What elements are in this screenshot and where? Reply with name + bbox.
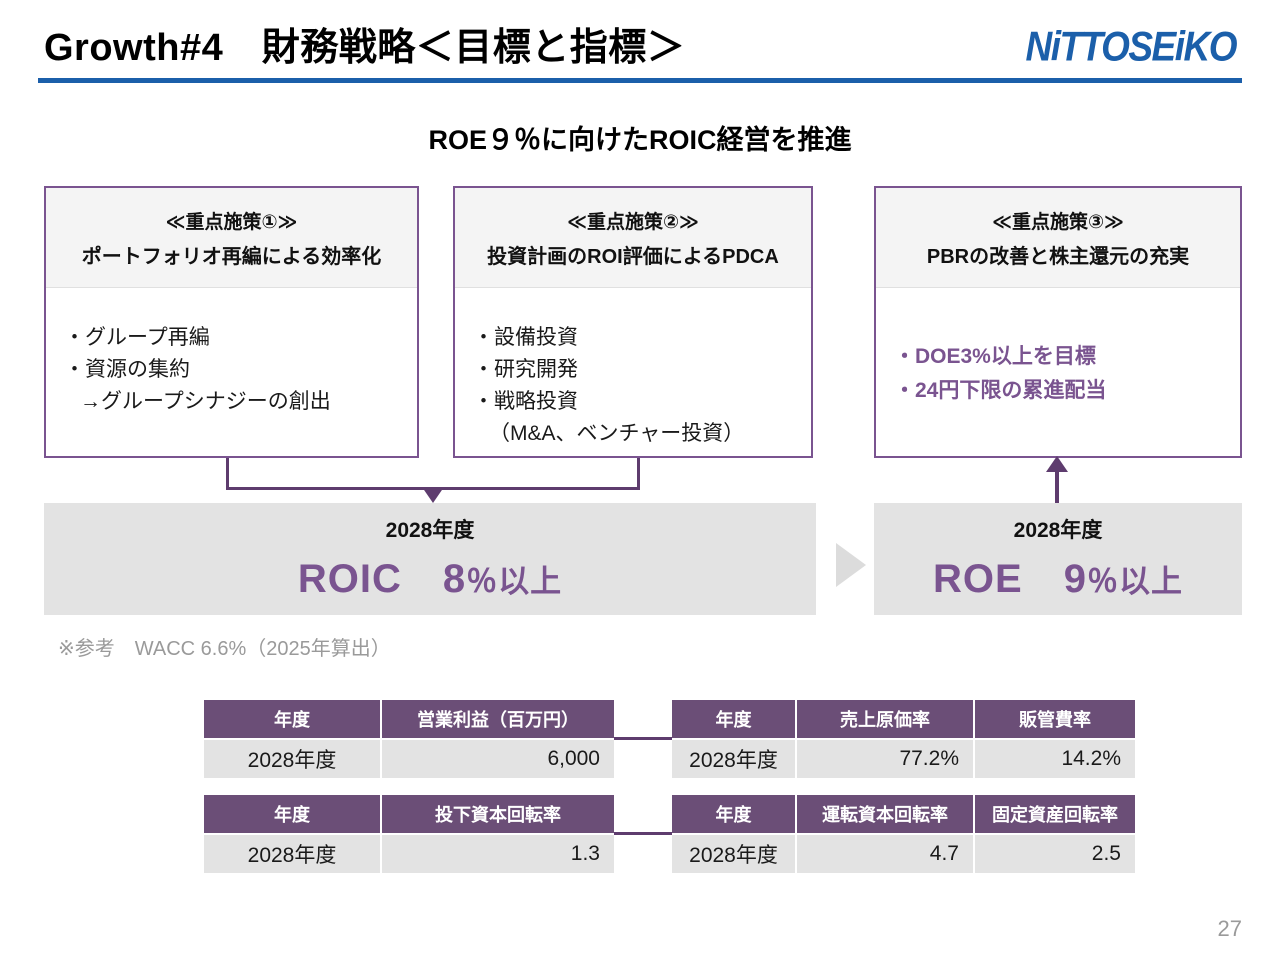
policy-box-2-body: ・設備投資 ・研究開発 ・戦略投資 （M&A、ベンチャー投資）	[455, 288, 811, 450]
policy-box-3-header: ≪重点施策③≫ PBRの改善と株主還元の充実	[876, 188, 1240, 288]
page-number: 27	[1218, 916, 1242, 942]
policy-box-2: ≪重点施策②≫ 投資計画のROI評価によるPDCA ・設備投資 ・研究開発 ・戦…	[453, 186, 813, 458]
roic-target-box: 2028年度 ROIC 8％以上	[44, 503, 816, 615]
policy-box-1-heading: ポートフォリオ再編による効率化	[82, 240, 381, 269]
table-cell: 6,000	[382, 738, 614, 778]
table-cell: 2028年度	[204, 833, 382, 873]
table-connector-bottom	[614, 832, 672, 835]
roe-value: ROE 9％以上	[933, 546, 1183, 604]
policy-box-1-tag: ≪重点施策①≫	[166, 207, 298, 234]
column-header: 投下資本回転率	[382, 795, 614, 833]
wacc-footnote: ※参考 WACC 6.6%（2025年算出）	[58, 632, 391, 661]
table-cell: 2.5	[975, 833, 1135, 873]
policy-box-3-tag: ≪重点施策③≫	[992, 207, 1124, 234]
list-item: ・資源の集約	[64, 354, 399, 386]
table-cell: 14.2%	[975, 738, 1135, 778]
roe-target-box: 2028年度 ROE 9％以上	[874, 503, 1242, 615]
list-item: （M&A、ベンチャー投資）	[473, 418, 793, 450]
table-connector-top	[614, 737, 672, 740]
table-operating-profit: 年度 営業利益（百万円） 2028年度 6,000	[204, 700, 614, 778]
connector-stem-left	[226, 458, 229, 490]
table-header-row: 年度 運転資本回転率 固定資産回転率	[672, 795, 1135, 833]
column-header: 運転資本回転率	[797, 795, 975, 833]
table-header-row: 年度 売上原価率 販管費率	[672, 700, 1135, 738]
table-row: 2028年度 6,000	[204, 738, 614, 778]
table-cost-ratios: 年度 売上原価率 販管費率 2028年度 77.2% 14.2%	[672, 700, 1135, 778]
policy-box-3-body: ・DOE3%以上を目標 ・24円下限の累進配当	[876, 288, 1240, 408]
subtitle: ROE９％に向けたROIC経営を推進	[0, 118, 1280, 157]
list-item: ・24円下限の累進配当	[894, 374, 1222, 408]
roe-unit: ％以上	[1087, 564, 1183, 599]
arrow-down-icon	[422, 487, 444, 503]
table-row: 2028年度 77.2% 14.2%	[672, 738, 1135, 778]
table-cell: 2028年度	[672, 833, 797, 873]
list-item: ・DOE3%以上を目標	[894, 340, 1222, 374]
slide-header: Growth#4 財務戦略＜目標と指標＞ NiTTOSEiKO	[0, 0, 1280, 90]
list-item: ・設備投資	[473, 322, 793, 354]
nittoseiko-logo: NiTTOSEiKO	[1026, 23, 1236, 70]
table-turnover-ratios: 年度 運転資本回転率 固定資産回転率 2028年度 4.7 2.5	[672, 795, 1135, 873]
table-header-row: 年度 投下資本回転率	[204, 795, 614, 833]
column-header: 年度	[672, 795, 797, 833]
roe-metric: ROE 9	[933, 557, 1087, 601]
policy-box-3-heading: PBRの改善と株主還元の充実	[927, 240, 1189, 269]
roe-year: 2028年度	[1014, 514, 1103, 544]
column-header: 年度	[204, 700, 382, 738]
policy-box-2-header: ≪重点施策②≫ 投資計画のROI評価によるPDCA	[455, 188, 811, 288]
table-row: 2028年度 4.7 2.5	[672, 833, 1135, 873]
policy-box-2-tag: ≪重点施策②≫	[567, 207, 699, 234]
arrow-up-icon	[1046, 456, 1068, 472]
table-cell: 1.3	[382, 833, 614, 873]
column-header: 販管費率	[975, 700, 1135, 738]
roic-unit: ％以上	[466, 564, 562, 599]
column-header: 年度	[672, 700, 797, 738]
policy-box-1-body: ・グループ再編 ・資源の集約 →グループシナジーの創出	[46, 288, 417, 418]
list-item: ・グループ再編	[64, 322, 399, 354]
table-cell: 77.2%	[797, 738, 975, 778]
list-item: ・戦略投資	[473, 386, 793, 418]
slide: Growth#4 財務戦略＜目標と指標＞ NiTTOSEiKO ROE９％に向け…	[0, 0, 1280, 960]
title-underline	[38, 78, 1242, 83]
policy-box-2-heading: 投資計画のROI評価によるPDCA	[487, 240, 779, 269]
table-cell: 2028年度	[204, 738, 382, 778]
connector-stem-right	[637, 458, 640, 490]
list-item: ・研究開発	[473, 354, 793, 386]
column-header: 年度	[204, 795, 382, 833]
column-header: 営業利益（百万円）	[382, 700, 614, 738]
policy-box-1-header: ≪重点施策①≫ ポートフォリオ再編による効率化	[46, 188, 417, 288]
table-invested-capital-turnover: 年度 投下資本回転率 2028年度 1.3	[204, 795, 614, 873]
table-cell: 2028年度	[672, 738, 797, 778]
column-header: 固定資産回転率	[975, 795, 1135, 833]
policy-box-1: ≪重点施策①≫ ポートフォリオ再編による効率化 ・グループ再編 ・資源の集約 →…	[44, 186, 419, 458]
table-row: 2028年度 1.3	[204, 833, 614, 873]
list-item: →グループシナジーの創出	[64, 386, 399, 418]
policy-box-3: ≪重点施策③≫ PBRの改善と株主還元の充実 ・DOE3%以上を目標 ・24円下…	[874, 186, 1242, 458]
connector-roe-stem	[1055, 470, 1059, 503]
roic-metric: ROIC 8	[298, 557, 466, 601]
roic-value: ROIC 8％以上	[298, 546, 562, 604]
column-header: 売上原価率	[797, 700, 975, 738]
table-header-row: 年度 営業利益（百万円）	[204, 700, 614, 738]
triangle-right-icon	[836, 543, 866, 587]
page-title: Growth#4 財務戦略＜目標と指標＞	[44, 16, 685, 71]
roic-year: 2028年度	[386, 514, 475, 544]
table-cell: 4.7	[797, 833, 975, 873]
